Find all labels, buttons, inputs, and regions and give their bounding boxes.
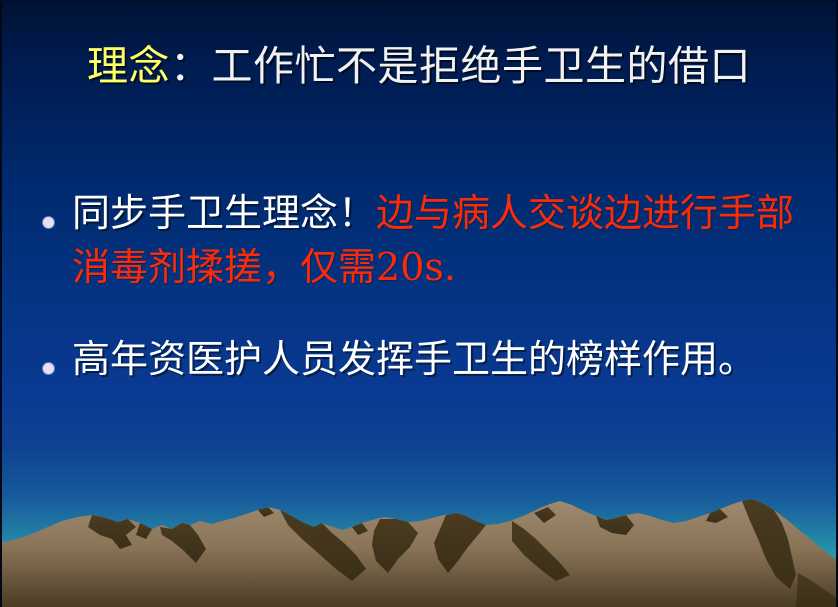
slide-title: 理念：工作忙不是拒绝手卫生的借口 [0, 41, 838, 91]
bullet-1-segment-white: 同步手卫生理念！ [72, 191, 376, 235]
bullet-item-1-text: 同步手卫生理念！边与病人交谈边进行手部消毒剂揉搓，仅需20s. [72, 186, 798, 294]
bullet-item-2-text: 高年资医护人员发挥手卫生的榜样作用。 [72, 332, 798, 386]
scenery-graphic [0, 477, 838, 607]
slide-border-top [0, 0, 838, 2]
bullet-item-2: 高年资医护人员发挥手卫生的榜样作用。 [0, 332, 838, 386]
title-rest: ：工作忙不是拒绝手卫生的借口 [170, 42, 751, 90]
bullet-2-segment-white: 高年资医护人员发挥手卫生的榜样作用。 [72, 337, 756, 381]
bullet-item-1: 同步手卫生理念！边与病人交谈边进行手部消毒剂揉搓，仅需20s. [0, 186, 838, 294]
presentation-slide: 理念：工作忙不是拒绝手卫生的借口 同步手卫生理念！边与病人交谈边进行手部消毒剂揉… [0, 0, 838, 607]
round-bullet-icon [43, 363, 54, 374]
bullet-1-segment-duration: 20s. [376, 245, 456, 289]
slide-border-left [0, 0, 2, 607]
title-highlight: 理念 [87, 42, 170, 90]
round-bullet-icon [43, 217, 54, 228]
slide-body: 同步手卫生理念！边与病人交谈边进行手部消毒剂揉搓，仅需20s. 高年资医护人员发… [0, 186, 838, 424]
mountain-range-icon [0, 477, 838, 607]
